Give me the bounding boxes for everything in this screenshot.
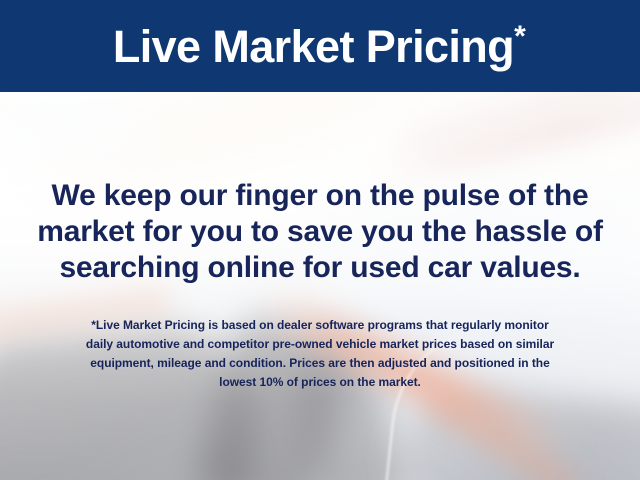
banner-title-asterisk: * (514, 20, 525, 53)
headline-line-2: market for you to save you the hassle of (0, 214, 640, 250)
disclaimer-line-4: lowest 10% of prices on the market. (0, 373, 640, 392)
headline-line-3: searching online for used car values. (0, 250, 640, 286)
headline-line-1: We keep our finger on the pulse of the (0, 178, 640, 214)
headline-block: We keep our finger on the pulse of the m… (0, 178, 640, 286)
disclaimer-line-1: *Live Market Pricing is based on dealer … (0, 316, 640, 335)
disclaimer-line-2: daily automotive and competitor pre-owne… (0, 335, 640, 354)
banner-title: Live Market Pricing* (113, 24, 527, 69)
header-banner: Live Market Pricing* (0, 0, 640, 92)
banner-title-text: Live Market Pricing (113, 21, 514, 72)
live-market-pricing-slide: Live Market Pricing* We keep our finger … (0, 0, 640, 480)
disclaimer-line-3: equipment, mileage and condition. Prices… (0, 354, 640, 373)
disclaimer-block: *Live Market Pricing is based on dealer … (0, 316, 640, 392)
